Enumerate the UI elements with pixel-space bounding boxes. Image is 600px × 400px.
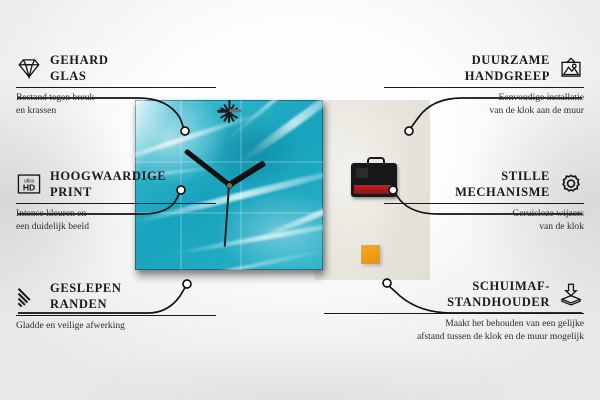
divider: [16, 87, 216, 88]
feature-title: DUURZAME HANDGREEP: [465, 52, 550, 84]
feature-duurzame-handgreep[interactable]: DUURZAME HANDGREEP Eenvoudige installati…: [384, 52, 584, 118]
feature-description: Gladde en veilige afwerking: [16, 320, 216, 333]
title-line-2: MECHANISME: [455, 184, 550, 200]
feature-schuimafstandhouder[interactable]: SCHUIMAF- STANDHOUDER Maakt het behouden…: [324, 278, 584, 344]
hand-cap: [227, 183, 232, 188]
feature-title: HOOGWAARDIGE PRINT: [50, 168, 166, 200]
desc-line-2: en krassen: [16, 105, 216, 118]
feature-title: GEHARD GLAS: [50, 52, 108, 84]
ultra-hd-icon: ultra HD: [16, 172, 42, 196]
feature-header: ultra HD HOOGWAARDIGE PRINT: [16, 168, 216, 200]
divider: [384, 87, 584, 88]
diamond-icon: [16, 56, 42, 80]
picture-frame-icon: [558, 56, 584, 80]
feature-title: STILLE MECHANISME: [455, 168, 550, 200]
desc-line-2: een duidelijk beeld: [16, 221, 216, 234]
feature-description: Geruisloze wijzers van de klok: [384, 208, 584, 234]
feature-title: GESLEPEN RANDEN: [50, 280, 122, 312]
desc-line-2: afstand tussen de klok en de muur mogeli…: [324, 331, 584, 344]
title-line-2: GLAS: [50, 68, 108, 84]
infographic-canvas: GEHARD GLAS Bestand tegen breuk en krass…: [0, 0, 600, 400]
desc-line-1: Bestand tegen breuk: [16, 92, 216, 105]
feature-description: Maakt het behouden van een gelijke afsta…: [324, 318, 584, 344]
feature-header: GEHARD GLAS: [16, 52, 216, 84]
title-line-2: PRINT: [50, 184, 166, 200]
divider: [384, 203, 584, 204]
desc-line-1: Eenvoudige installatie: [384, 92, 584, 105]
title-line-1: DUURZAME: [465, 52, 550, 68]
bevelled-edges-icon: [16, 284, 42, 308]
feature-header: SCHUIMAF- STANDHOUDER: [324, 278, 584, 310]
title-line-2: STANDHOUDER: [447, 294, 550, 310]
feature-hoogwaardige-print[interactable]: ultra HD HOOGWAARDIGE PRINT Intense kleu…: [16, 168, 216, 234]
divider: [16, 315, 216, 316]
title-line-1: GEHARD: [50, 52, 108, 68]
feature-title: SCHUIMAF- STANDHOUDER: [447, 278, 550, 310]
title-line-1: HOOGWAARDIGE: [50, 168, 166, 184]
desc-line-1: Intense kleuren en: [16, 208, 216, 221]
desc-line-1: Gladde en veilige afwerking: [16, 320, 216, 333]
foam-spacer: [361, 245, 380, 264]
divider: [16, 203, 216, 204]
title-line-1: SCHUIMAF-: [447, 278, 550, 294]
feature-description: Bestand tegen breuk en krassen: [16, 92, 216, 118]
gear-icon: [558, 172, 584, 196]
feature-description: Eenvoudige installatie van de klok aan d…: [384, 92, 584, 118]
feature-header: DUURZAME HANDGREEP: [384, 52, 584, 84]
press-down-icon: [558, 282, 584, 306]
title-line-1: GESLEPEN: [50, 280, 122, 296]
feature-gehard-glas[interactable]: GEHARD GLAS Bestand tegen breuk en krass…: [16, 52, 216, 118]
feature-header: STILLE MECHANISME: [384, 168, 584, 200]
feature-header: GESLEPEN RANDEN: [16, 280, 216, 312]
feature-stille-mechanisme[interactable]: STILLE MECHANISME Geruisloze wijzers van…: [384, 168, 584, 234]
divider: [324, 313, 584, 314]
desc-line-2: van de klok: [384, 221, 584, 234]
feature-description: Intense kleuren en een duidelijk beeld: [16, 208, 216, 234]
svg-text:HD: HD: [23, 183, 35, 193]
title-line-1: STILLE: [455, 168, 550, 184]
feature-geslepen-randen[interactable]: GESLEPEN RANDEN Gladde en veilige afwerk…: [16, 280, 216, 333]
title-line-2: HANDGREEP: [465, 68, 550, 84]
desc-line-1: Geruisloze wijzers: [384, 208, 584, 221]
desc-line-2: van de klok aan de muur: [384, 105, 584, 118]
desc-line-1: Maakt het behouden van een gelijke: [324, 318, 584, 331]
title-line-2: RANDEN: [50, 296, 122, 312]
